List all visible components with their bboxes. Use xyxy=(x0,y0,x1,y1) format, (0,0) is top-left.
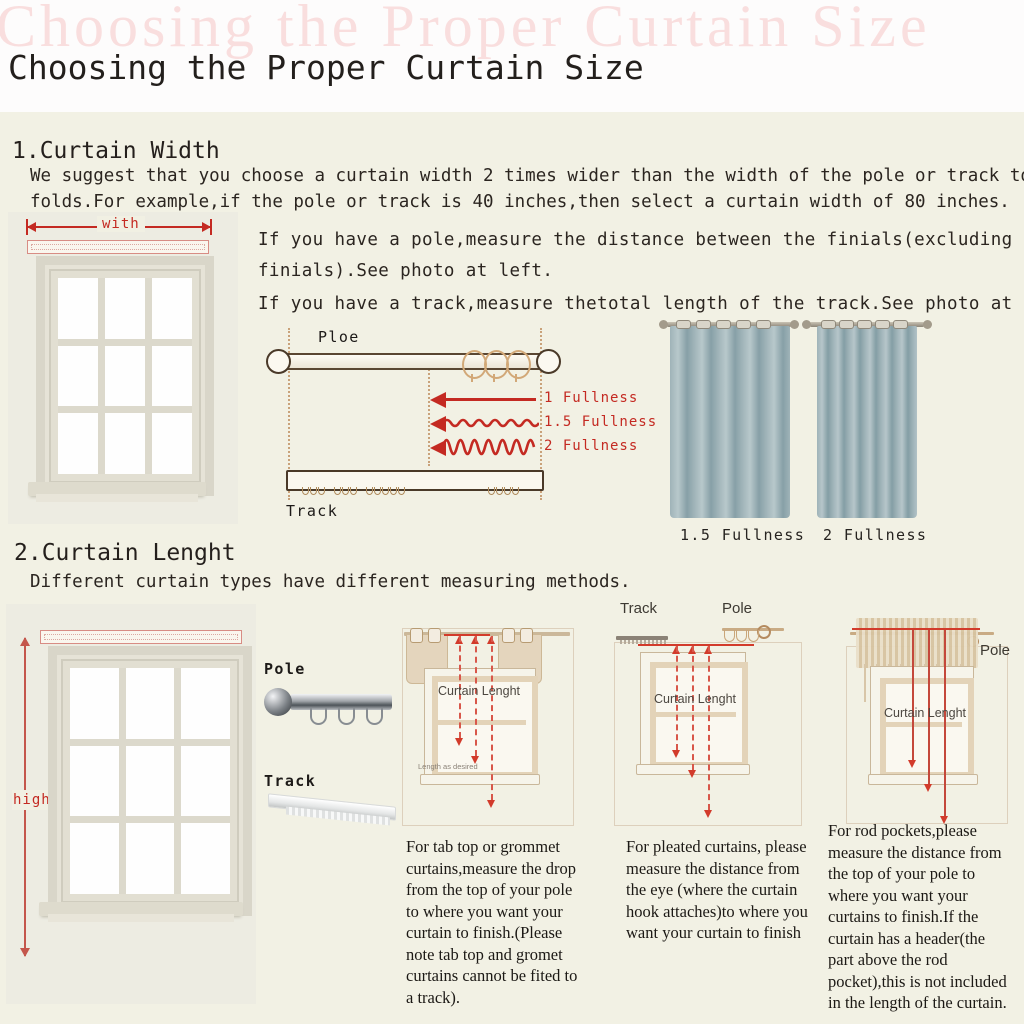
pole-ring-icon xyxy=(736,630,747,642)
measure-down-arrow xyxy=(455,738,463,746)
window-panes xyxy=(58,278,192,474)
window-pane xyxy=(70,823,119,894)
measure-down-arrow xyxy=(487,800,495,808)
curtain-ring-icon xyxy=(506,350,531,379)
hardware-track-label: Track xyxy=(264,772,316,790)
measure-label-rod-pocket: Curtain Lenght xyxy=(884,706,966,720)
window-panes xyxy=(70,668,230,894)
width-label: with xyxy=(97,216,145,232)
window-photo-height: high xyxy=(6,604,256,1004)
caption-pleated: For pleated curtains, please measure the… xyxy=(626,836,808,944)
window-pane xyxy=(58,346,98,407)
measure-label-tab-top: Curtain Lenght xyxy=(438,684,520,698)
pole-finial-icon xyxy=(757,625,771,639)
window-inner-frame xyxy=(63,661,237,901)
measure-dash-long xyxy=(708,646,710,810)
window-pane xyxy=(58,413,98,474)
track-hook-icon xyxy=(334,487,341,495)
track-hook-icon xyxy=(350,487,357,495)
hardware-photos: Pole Track xyxy=(258,660,398,840)
window-frame xyxy=(36,256,214,496)
window-sill-lower xyxy=(36,494,198,502)
window-pane xyxy=(126,746,175,817)
sketch-pole-label: Ploe xyxy=(318,328,360,346)
diagram-pleated: Track Pole Curtain Lenght xyxy=(612,600,812,832)
window-pane xyxy=(105,413,145,474)
fullness-label-3: 2 Fullness xyxy=(544,438,638,454)
sketch-track-label: Track xyxy=(286,502,338,520)
measure-line-short xyxy=(912,630,914,764)
pole-ring-icon xyxy=(724,630,735,642)
window-inner-frame xyxy=(51,271,199,481)
pole-photo-finial-icon xyxy=(264,688,292,716)
pole-track-sketch: Ploe 1 Fullness 1.5 Fullness 2 Fullness xyxy=(248,322,638,522)
diagram-pole-label: Pole xyxy=(980,642,1010,659)
section1-right-paragraph-2: finials).See photo at left. xyxy=(258,261,553,281)
caption-rod-pocket: For rod pockets,please measure the dista… xyxy=(828,820,1014,1014)
track-hook-icon xyxy=(512,487,519,495)
track-hook-icon xyxy=(382,487,389,495)
diagram-track-label: Track xyxy=(620,600,657,617)
track-hook-icon xyxy=(366,487,373,495)
header-band: Choosing the Proper Curtain Size Choosin… xyxy=(0,0,1024,112)
pole-photo-ring-icon xyxy=(366,708,383,725)
section2-paragraph: Different curtain types have different m… xyxy=(30,572,631,592)
window-pane xyxy=(181,823,230,894)
diagram-window-sill xyxy=(868,774,978,785)
section1-heading: 1.Curtain Width xyxy=(12,138,220,164)
pleat-fold xyxy=(864,664,866,702)
window-pane xyxy=(152,278,192,339)
diagram-window-sill xyxy=(420,774,540,785)
section1-right-paragraph-3: If you have a track,measure thetotal len… xyxy=(258,294,1024,314)
diagram-tab-top: Curtain Lenght Length as desired xyxy=(398,610,580,832)
grommet-icon xyxy=(821,320,836,329)
diagram-pole-label: Pole xyxy=(722,600,752,617)
pole-finial-right-icon xyxy=(536,349,561,374)
caption-tab-top: For tab top or grommet curtains,measure … xyxy=(406,836,582,1008)
curtain-caption-1-5: 1.5 Fullness xyxy=(680,526,805,544)
fullness-label-1: 1 Fullness xyxy=(544,390,638,406)
grommet-icon xyxy=(716,320,731,329)
window-pane xyxy=(126,668,175,739)
pole-photo-ring-icon xyxy=(310,708,327,725)
measure-down-arrow xyxy=(688,770,696,778)
measure-label-pleated: Curtain Lenght xyxy=(654,692,736,706)
grommet-icon xyxy=(756,320,771,329)
curtain-fabric xyxy=(670,326,790,518)
measure-topline xyxy=(638,644,754,646)
curtain-caption-2: 2 Fullness xyxy=(823,526,927,544)
height-label: high xyxy=(12,790,52,810)
hardware-pole-label: Pole xyxy=(264,660,306,678)
window-pane xyxy=(58,278,98,339)
diagram-window-inner xyxy=(880,678,974,778)
track-hook-icon xyxy=(496,487,503,495)
measure-down-arrow xyxy=(924,784,932,792)
diagram-window-mullion xyxy=(880,722,962,727)
rod-pocket-header xyxy=(856,618,978,668)
fullness-wave-1-5 xyxy=(443,414,539,432)
measure-down-arrow xyxy=(908,760,916,768)
window-sill-lower xyxy=(48,914,234,922)
section1-paragraph-1: We suggest that you choose a curtain wid… xyxy=(30,166,1024,186)
window-photo-width: with xyxy=(8,212,238,524)
page-title: Choosing the Proper Curtain Size xyxy=(8,48,644,87)
track-hook-icon xyxy=(310,487,317,495)
track-hook-icon xyxy=(318,487,325,495)
track-hook-icon xyxy=(302,487,309,495)
track-hook-icon xyxy=(398,487,405,495)
fullness-label-2: 1.5 Fullness xyxy=(544,414,657,430)
section1-right-paragraph-1: If you have a pole,measure the distance … xyxy=(258,230,1024,250)
track-hook-icon xyxy=(488,487,495,495)
fullness-wave-2 xyxy=(443,432,539,462)
grommet-icon xyxy=(893,320,908,329)
pole-finial-left-icon xyxy=(266,349,291,374)
curtain-rod-bar xyxy=(40,630,242,644)
grommet-icon xyxy=(736,320,751,329)
tab-loop-icon xyxy=(502,628,515,643)
window-frame xyxy=(48,646,252,916)
tab-loop-icon xyxy=(520,628,533,643)
grommet-icon xyxy=(857,320,872,329)
diagram-window-mullion xyxy=(432,720,526,725)
measure-down-arrow xyxy=(672,750,680,758)
grommet-icon xyxy=(875,320,890,329)
window-pane xyxy=(126,823,175,894)
curtain-photo-2: 2 Fullness xyxy=(805,318,935,533)
measure-down-arrow xyxy=(704,810,712,818)
curtain-photo-1-5: 1.5 Fullness xyxy=(660,318,800,533)
track-hook-icon xyxy=(504,487,511,495)
infographic-page: Choosing the Proper Curtain Size Choosin… xyxy=(0,0,1024,1024)
section2-heading: 2.Curtain Lenght xyxy=(14,540,236,566)
tab-loop-icon xyxy=(410,628,423,643)
pole-ring-icon xyxy=(748,630,759,642)
measure-dash-long xyxy=(491,636,493,800)
grommet-icon xyxy=(676,320,691,329)
window-pane xyxy=(152,413,192,474)
window-pane xyxy=(70,668,119,739)
window-pane xyxy=(152,346,192,407)
section1-paragraph-2: folds.For example,if the pole or track i… xyxy=(30,192,1010,212)
grommet-icon xyxy=(839,320,854,329)
window-pane xyxy=(105,278,145,339)
window-pane xyxy=(105,346,145,407)
measure-topline xyxy=(444,634,490,636)
track-hook-icon xyxy=(390,487,397,495)
window-pane xyxy=(181,668,230,739)
window-pane xyxy=(181,746,230,817)
tab-loop-icon xyxy=(428,628,441,643)
track-hook-icon xyxy=(342,487,349,495)
track-hook-icon xyxy=(374,487,381,495)
grommet-icon xyxy=(696,320,711,329)
note-length-as-desired: Length as desired xyxy=(418,762,478,771)
window-pane xyxy=(70,746,119,817)
curtain-fabric xyxy=(817,326,917,518)
pole-photo-ring-icon xyxy=(338,708,355,725)
fullness-line-1 xyxy=(444,398,536,401)
measure-line-long xyxy=(944,630,946,820)
diagram-rod-pocket: Pole Curtain Lenght xyxy=(828,598,1024,826)
measure-topline xyxy=(852,628,980,630)
measure-dash-mid xyxy=(692,646,694,770)
curtain-rod-bar xyxy=(27,240,209,254)
